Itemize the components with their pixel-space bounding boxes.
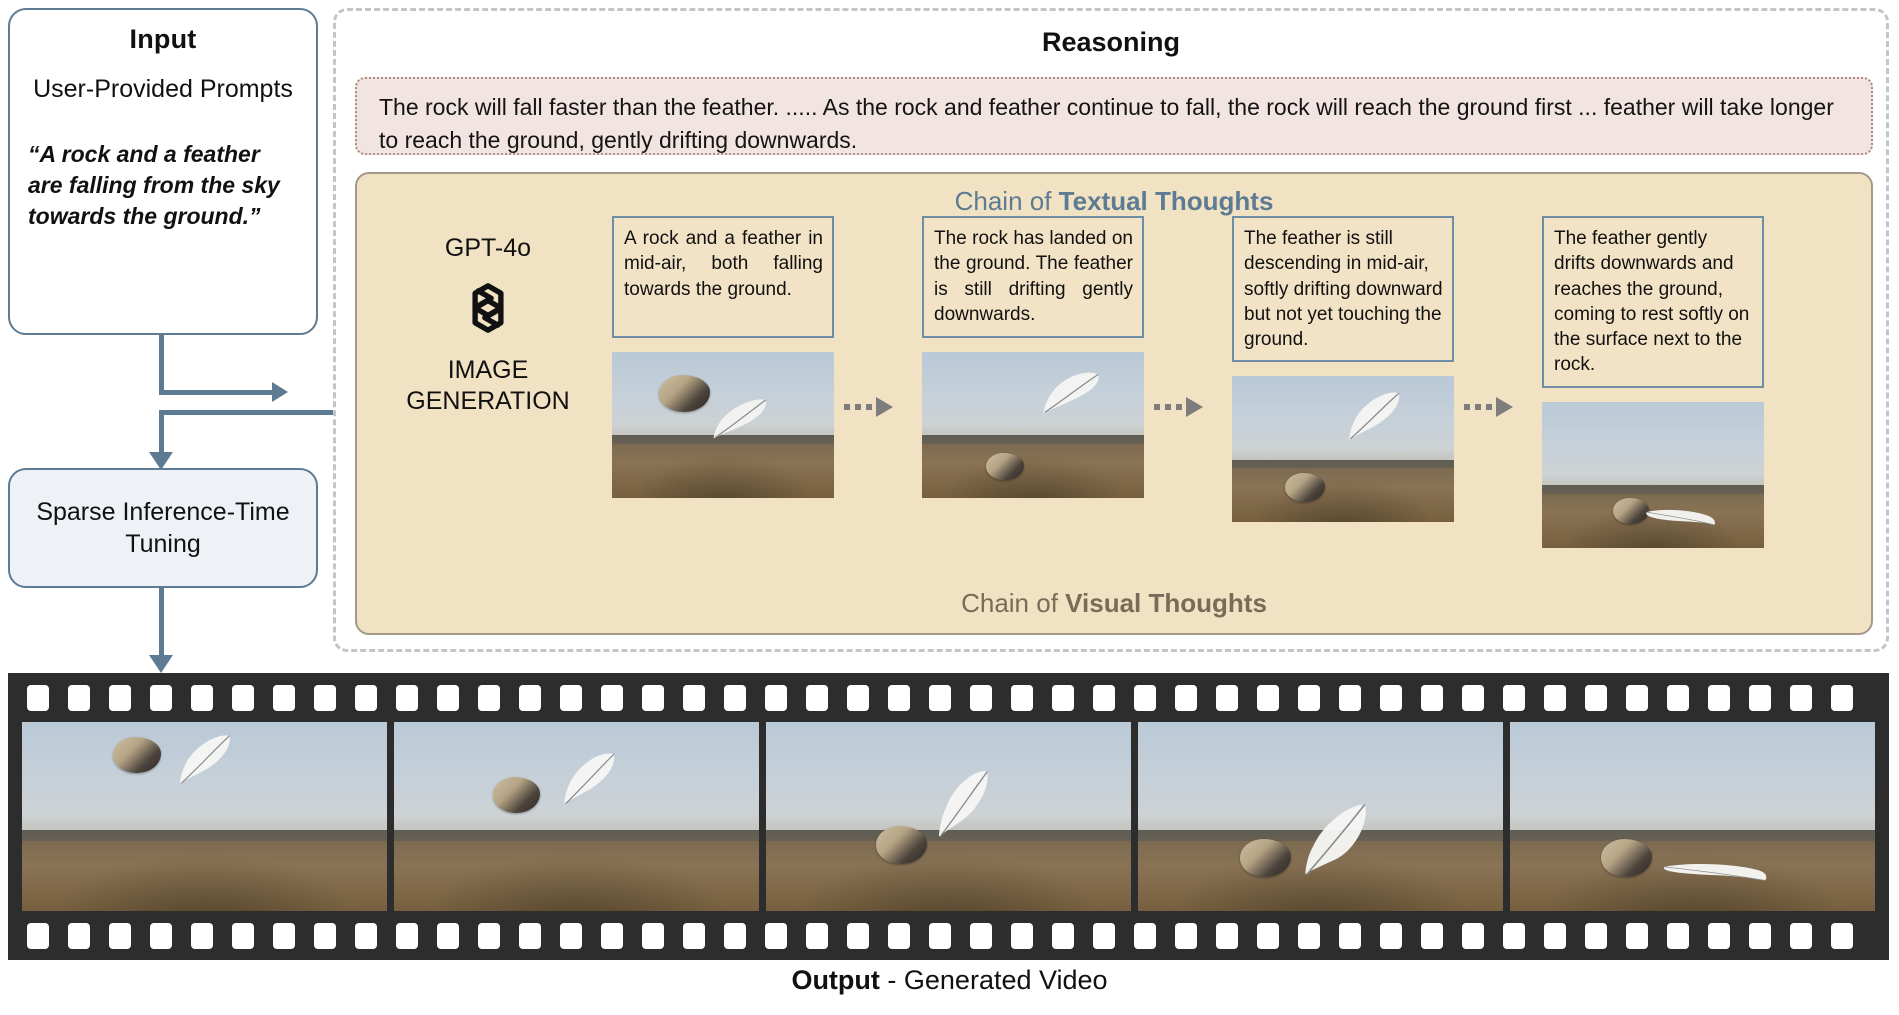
- filmstrip-perforation: [724, 923, 746, 949]
- filmstrip-perforation: [970, 923, 992, 949]
- textual-thought-2: The rock has landed on the ground. The f…: [922, 216, 1144, 338]
- filmstrip-perforation: [1339, 923, 1361, 949]
- filmstrip-perforation: [1503, 685, 1525, 711]
- filmstrip-perforation: [1749, 923, 1771, 949]
- filmstrip-perforations-top: [8, 681, 1889, 714]
- filmstrip-perforation: [929, 923, 951, 949]
- filmstrip-perforation: [806, 685, 828, 711]
- filmstrip-perforation: [355, 923, 377, 949]
- rock-object: [493, 777, 540, 813]
- filmstrip-perforation: [847, 923, 869, 949]
- model-capability-label: IMAGEGENERATION: [406, 355, 569, 416]
- arrow-dots: [844, 404, 878, 410]
- filmstrip-perforation: [1298, 685, 1320, 711]
- input-subtitle: User-Provided Prompts: [33, 73, 293, 105]
- filmstrip-perforation: [1421, 685, 1443, 711]
- capability-line-1: IMAGE: [448, 356, 529, 384]
- filmstrip-perforation: [437, 923, 459, 949]
- filmstrip-perforation: [191, 923, 213, 949]
- video-frame-1: [22, 722, 387, 911]
- filmstrip-perforation: [1093, 923, 1115, 949]
- filmstrip-perforation: [314, 923, 336, 949]
- user-prompt-text: “A rock and a feather are falling from t…: [28, 139, 298, 232]
- filmstrip-perforation: [1626, 685, 1648, 711]
- sky-layer: [922, 352, 1144, 443]
- filmstrip-perforation: [1626, 923, 1648, 949]
- visual-thought-4: [1542, 402, 1764, 548]
- filmstrip-perforation: [1052, 685, 1074, 711]
- rock-object: [113, 737, 160, 773]
- openai-logo-icon: [455, 275, 521, 341]
- filmstrip-perforation: [1257, 685, 1279, 711]
- ground-shade-layer: [394, 841, 759, 911]
- filmstrip-perforation: [1790, 923, 1812, 949]
- filmstrip-perforation: [1749, 685, 1771, 711]
- connector-down-to-tuning: [159, 410, 164, 458]
- textual-heading-bold: Textual Thoughts: [1059, 186, 1274, 216]
- filmstrip-perforation: [519, 685, 541, 711]
- filmstrip-perforation: [642, 685, 664, 711]
- filmstrip-perforation: [642, 923, 664, 949]
- filmstrip-perforation: [847, 685, 869, 711]
- filmstrip-perforation: [765, 685, 787, 711]
- video-frame-2: [394, 722, 759, 911]
- filmstrip-perforation: [150, 923, 172, 949]
- output-filmstrip: [8, 673, 1889, 960]
- step-arrow-3-to-4-icon: [1464, 398, 1516, 416]
- thought-column-2: The rock has landed on the ground. The f…: [922, 216, 1144, 498]
- filmstrip-perforation: [1544, 685, 1566, 711]
- chain-of-textual-thoughts-heading: Chain of Textual Thoughts: [357, 186, 1871, 217]
- ground-shade-layer: [922, 444, 1144, 498]
- arrowhead-to-filmstrip-icon: [149, 655, 173, 673]
- textual-thought-3: The feather is still descending in mid-a…: [1232, 216, 1454, 362]
- filmstrip-perforation: [1216, 923, 1238, 949]
- filmstrip-perforation: [1708, 685, 1730, 711]
- filmstrip-perforation: [888, 685, 910, 711]
- video-frame-5: [1510, 722, 1875, 911]
- ground-shade-layer: [612, 444, 834, 498]
- filmstrip-perforation: [806, 923, 828, 949]
- sky-layer: [1510, 722, 1875, 839]
- filmstrip-perforation: [27, 685, 49, 711]
- filmstrip-perforation: [601, 923, 623, 949]
- model-column: GPT-4o IMAGEGENERATION: [393, 234, 583, 416]
- rock-object: [876, 826, 927, 864]
- arrow-dots: [1154, 404, 1188, 410]
- filmstrip-perforation: [1052, 923, 1074, 949]
- filmstrip-perforation: [478, 685, 500, 711]
- feather-object: [934, 764, 996, 840]
- filmstrip-perforation: [396, 685, 418, 711]
- filmstrip-perforation: [232, 685, 254, 711]
- filmstrip-perforation: [888, 923, 910, 949]
- filmstrip-perforation: [1011, 923, 1033, 949]
- feather-object: [1299, 798, 1379, 877]
- feather-object: [707, 394, 774, 444]
- filmstrip-perforation: [1093, 685, 1115, 711]
- filmstrip-perforation: [314, 685, 336, 711]
- filmstrip-perforation: [683, 685, 705, 711]
- filmstrip-perforation: [273, 923, 295, 949]
- filmstrip-perforation: [1462, 685, 1484, 711]
- output-caption-bold: Output: [791, 965, 879, 995]
- textual-heading-prefix: Chain of: [955, 186, 1059, 216]
- input-card: Input User-Provided Prompts “A rock and …: [8, 8, 318, 335]
- filmstrip-perforation: [191, 685, 213, 711]
- filmstrip-perforation: [150, 685, 172, 711]
- reasoning-panel: Reasoning The rock will fall faster than…: [333, 8, 1889, 652]
- sky-layer: [1542, 402, 1764, 493]
- filmstrip-perforation: [1298, 923, 1320, 949]
- video-frames: [22, 722, 1875, 911]
- output-caption: Output - Generated Video: [0, 965, 1899, 996]
- filmstrip-perforations-bottom: [8, 919, 1889, 952]
- capability-line-2: GENERATION: [406, 387, 569, 415]
- filmstrip-perforation: [970, 685, 992, 711]
- video-frame-4: [1138, 722, 1503, 911]
- thought-column-4: The feather gently drifts downwards and …: [1542, 216, 1764, 548]
- filmstrip-perforation: [1462, 923, 1484, 949]
- filmstrip-perforation: [601, 685, 623, 711]
- visual-thought-3: [1232, 376, 1454, 522]
- filmstrip-perforation: [683, 923, 705, 949]
- filmstrip-perforation: [1708, 923, 1730, 949]
- filmstrip-perforation: [1380, 923, 1402, 949]
- filmstrip-perforation: [1667, 685, 1689, 711]
- filmstrip-perforation: [1011, 685, 1033, 711]
- filmstrip-perforation: [1380, 685, 1402, 711]
- filmstrip-perforation: [478, 923, 500, 949]
- filmstrip-perforation: [1544, 923, 1566, 949]
- filmstrip-perforation: [232, 923, 254, 949]
- filmstrip-perforation: [560, 685, 582, 711]
- filmstrip-perforation: [1134, 923, 1156, 949]
- textual-thought-1: A rock and a feather in mid-air, both fa…: [612, 216, 834, 338]
- filmstrip-perforation: [929, 685, 951, 711]
- connector-tuning-to-output: [159, 588, 164, 664]
- filmstrip-perforation: [437, 685, 459, 711]
- filmstrip-perforation: [1831, 685, 1853, 711]
- feather-object: [1660, 858, 1770, 892]
- filmstrip-perforation: [273, 685, 295, 711]
- filmstrip-perforation: [1134, 685, 1156, 711]
- input-title: Input: [130, 24, 197, 55]
- chain-of-thoughts-panel: Chain of Textual Thoughts GPT-4o IMAGEGE…: [355, 172, 1873, 635]
- filmstrip-perforation: [1667, 923, 1689, 949]
- filmstrip-perforation: [1831, 923, 1853, 949]
- ground-shade-layer: [22, 841, 387, 911]
- filmstrip-perforation: [109, 923, 131, 949]
- visual-thought-1: [612, 352, 834, 498]
- filmstrip-perforation: [1421, 923, 1443, 949]
- thought-column-3: The feather is still descending in mid-a…: [1232, 216, 1454, 522]
- feather-object: [1642, 505, 1717, 537]
- reasoning-text: The rock will fall faster than the feath…: [379, 91, 1849, 158]
- filmstrip-perforation: [1175, 685, 1197, 711]
- filmstrip-perforation: [27, 923, 49, 949]
- filmstrip-perforation: [1503, 923, 1525, 949]
- arrow-head: [1186, 397, 1203, 417]
- arrowhead-to-reasoning-icon: [272, 382, 288, 402]
- thought-column-1: A rock and a feather in mid-air, both fa…: [612, 216, 834, 498]
- filmstrip-perforation: [109, 685, 131, 711]
- filmstrip-perforation: [396, 923, 418, 949]
- visual-thought-2: [922, 352, 1144, 498]
- connector-input-down: [159, 335, 164, 395]
- feather-object: [558, 747, 620, 807]
- reasoning-title: Reasoning: [336, 27, 1886, 58]
- sparse-inference-time-tuning-card: Sparse Inference-Time Tuning: [8, 468, 318, 588]
- filmstrip-perforation: [1216, 685, 1238, 711]
- filmstrip-perforation: [68, 923, 90, 949]
- reasoning-text-box: The rock will fall faster than the feath…: [355, 77, 1873, 155]
- arrow-head: [876, 397, 893, 417]
- feather-object: [1037, 365, 1104, 418]
- filmstrip-perforation: [765, 923, 787, 949]
- textual-thought-4: The feather gently drifts downwards and …: [1542, 216, 1764, 388]
- feather-object: [175, 730, 237, 787]
- filmstrip-perforation: [1257, 923, 1279, 949]
- ground-shade-layer: [766, 841, 1131, 911]
- ground-shade-layer: [1232, 468, 1454, 522]
- feather-object: [1343, 385, 1405, 443]
- arrow-dots: [1464, 404, 1498, 410]
- step-arrow-1-to-2-icon: [844, 398, 896, 416]
- visual-heading-prefix: Chain of: [961, 588, 1065, 618]
- video-frame-3: [766, 722, 1131, 911]
- visual-heading-bold: Visual Thoughts: [1065, 588, 1267, 618]
- filmstrip-perforation: [519, 923, 541, 949]
- rock-object: [659, 375, 710, 412]
- filmstrip-perforation: [68, 685, 90, 711]
- filmstrip-perforation: [1790, 685, 1812, 711]
- step-arrow-2-to-3-icon: [1154, 398, 1206, 416]
- chain-of-visual-thoughts-heading: Chain of Visual Thoughts: [357, 588, 1871, 619]
- connector-to-reasoning: [159, 390, 281, 395]
- arrow-head: [1496, 397, 1513, 417]
- model-name-label: GPT-4o: [445, 234, 531, 263]
- filmstrip-perforation: [1175, 923, 1197, 949]
- filmstrip-perforation: [1585, 685, 1607, 711]
- filmstrip-perforation: [724, 685, 746, 711]
- filmstrip-perforation: [355, 685, 377, 711]
- filmstrip-perforation: [1339, 685, 1361, 711]
- filmstrip-perforation: [560, 923, 582, 949]
- filmstrip-perforation: [1585, 923, 1607, 949]
- tuning-label: Sparse Inference-Time Tuning: [10, 496, 316, 561]
- output-caption-rest: - Generated Video: [880, 965, 1108, 995]
